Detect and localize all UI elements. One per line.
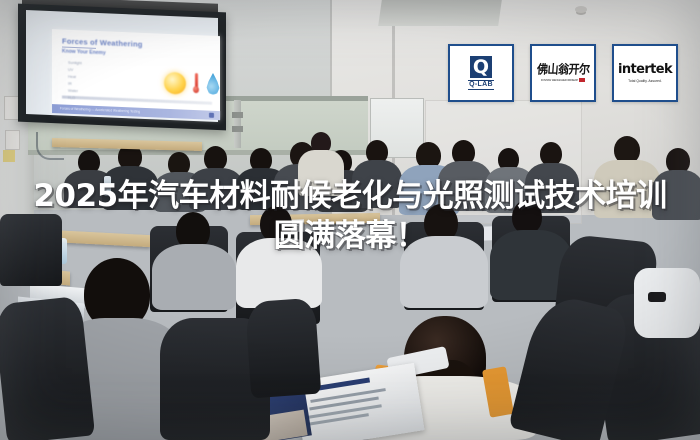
intertek-logo: intertek Total Quality. Assured. bbox=[618, 63, 672, 83]
intertek-mark: intertek bbox=[618, 63, 672, 77]
q-lab-letter: Q bbox=[473, 58, 489, 77]
poster-canvas: Forces of Weathering Know Your Enemy Sun… bbox=[0, 0, 700, 440]
headline-line-2: 圆满落幕！ bbox=[0, 216, 700, 256]
foshan-wengkaier-subtext: FOSHAN WENGKAIER IMP&EXP bbox=[541, 78, 585, 82]
headline-line-1: 2025年汽车材料耐候老化与光照测试技术培训 bbox=[0, 176, 700, 216]
foshan-wengkaier-logo: 佛山翁开尔 FOSHAN WENGKAIER IMP&EXP bbox=[537, 64, 590, 82]
poster-headline: 2025年汽车材料耐候老化与光照测试技术培训 圆满落幕！ bbox=[0, 176, 700, 256]
sponsor-logo-row: Q Q-LAB 佛山翁开尔 FOSHAN WENGKAIER IMP&EXP i… bbox=[448, 44, 678, 102]
q-lab-logo: Q Q-LAB bbox=[468, 56, 494, 90]
q-lab-wordmark: Q-LAB bbox=[468, 80, 494, 90]
intertek-tagline: Total Quality. Assured. bbox=[628, 79, 662, 83]
foshan-accent-mark-icon bbox=[579, 78, 585, 82]
q-lab-mark-icon: Q bbox=[470, 56, 492, 78]
foshan-wengkaier-wordmark: FOSHAN WENGKAIER IMP&EXP bbox=[541, 78, 578, 81]
logo-card-foshan-wengkaier: 佛山翁开尔 FOSHAN WENGKAIER IMP&EXP bbox=[530, 44, 596, 102]
logo-card-q-lab: Q Q-LAB bbox=[448, 44, 514, 102]
logo-card-intertek: intertek Total Quality. Assured. bbox=[612, 44, 678, 102]
foshan-wengkaier-mark: 佛山翁开尔 bbox=[536, 63, 589, 76]
